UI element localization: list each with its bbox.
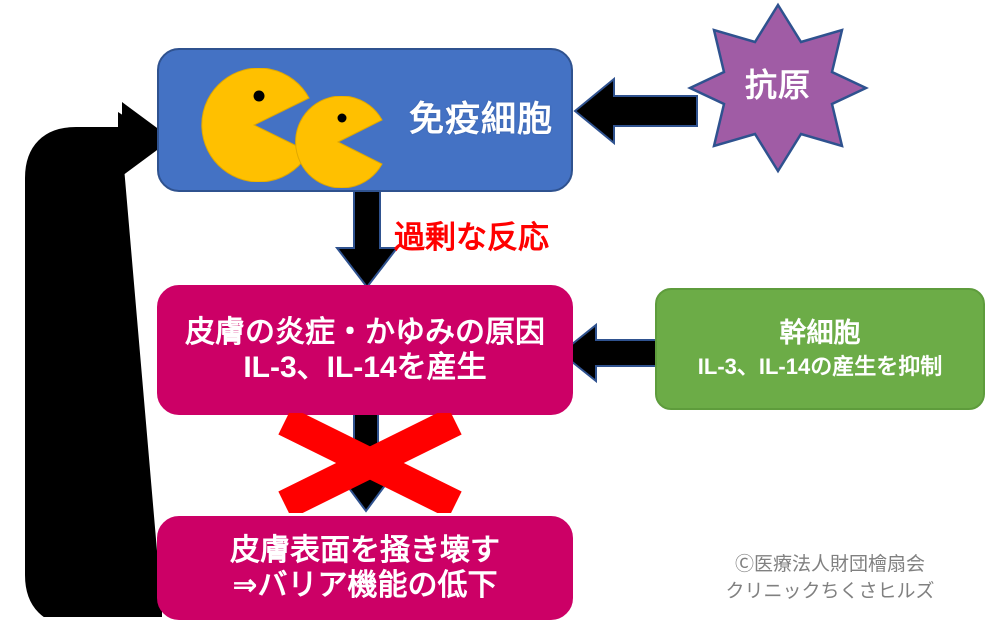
node-inflammation[interactable]: 皮膚の炎症・かゆみの原因 IL-3、IL-14を産生: [157, 285, 573, 415]
node-inflammation-line2: IL-3、IL-14を産生: [243, 350, 486, 385]
copyright-footer: Ⓒ医療法人財団檜扇会 クリニックちくさヒルズ: [690, 552, 970, 605]
node-immune-cell[interactable]: 免疫細胞: [157, 48, 573, 192]
node-barrier-line1: 皮膚表面を掻き壊す: [230, 533, 500, 568]
node-antigen-label: 抗原: [687, 60, 869, 106]
node-inflammation-line1: 皮膚の炎症・かゆみの原因: [185, 315, 545, 350]
red-cross-block-icon: [275, 413, 465, 513]
node-barrier-breakdown[interactable]: 皮膚表面を掻き壊す ⇒バリア機能の低下: [157, 516, 573, 620]
node-stem-cell-title: 幹細胞: [780, 318, 861, 350]
diagram-canvas: 免疫細胞 抗原 過剰な反応 皮膚の炎症・かゆみの原因 IL-3、IL-14を産生…: [0, 0, 1000, 626]
copyright-line2: クリニックちくさヒルズ: [690, 579, 970, 606]
copyright-line1: Ⓒ医療法人財団檜扇会: [690, 552, 970, 579]
pacman-cell-icon-2: [292, 96, 384, 188]
arrow-immune-to-inflammation: [332, 186, 402, 290]
node-barrier-line2: ⇒バリア機能の低下: [232, 568, 497, 603]
edge-label-overreaction: 過剰な反応: [394, 212, 549, 257]
node-immune-cell-label: 免疫細胞: [409, 99, 553, 140]
arrow-antigen-to-immune: [572, 76, 700, 146]
node-stem-cell-subtitle: IL-3、IL-14の産生を抑制: [698, 354, 942, 380]
arrow-stem-cell-to-inflammation: [558, 322, 666, 384]
node-stem-cell[interactable]: 幹細胞 IL-3、IL-14の産生を抑制: [655, 288, 985, 410]
